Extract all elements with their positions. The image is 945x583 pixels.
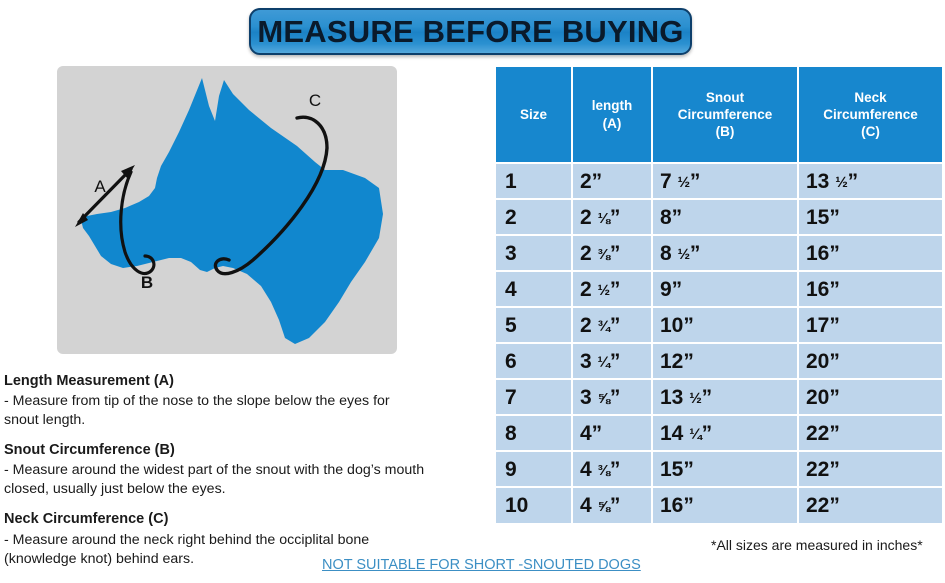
label-b: B [141, 273, 153, 292]
size-chart-table-body: 12”7 ½”13 ½”22 ⅛”8”15”32 ⅜”8 ½”16”42 ½”9… [496, 163, 942, 523]
cell-length: 4 ⅜” [572, 451, 652, 487]
dog-head-diagram: A B C [57, 66, 397, 354]
cell-neck: 22” [798, 487, 942, 523]
cell-snout: 16” [652, 487, 798, 523]
cell-snout: 12” [652, 343, 798, 379]
cell-length: 3 ¼” [572, 343, 652, 379]
cell-size: 3 [496, 235, 572, 271]
size-chart-table-wrapper: Size length(A) SnoutCircumference(B) Nec… [496, 67, 942, 523]
cell-length: 3 ⅝” [572, 379, 652, 415]
instruction-snout: Snout Circumference (B) - Measure around… [4, 441, 482, 499]
cell-neck: 15” [798, 199, 942, 235]
cell-neck: 20” [798, 379, 942, 415]
cell-snout: 8” [652, 199, 798, 235]
cell-length: 2 ¾” [572, 307, 652, 343]
cell-size: 5 [496, 307, 572, 343]
cell-size: 1 [496, 163, 572, 199]
table-row: 12”7 ½”13 ½” [496, 163, 942, 199]
cell-size: 10 [496, 487, 572, 523]
cell-snout: 9” [652, 271, 798, 307]
header-length: length(A) [572, 67, 652, 163]
cell-neck: 17” [798, 307, 942, 343]
table-row: 84”14 ¼”22” [496, 415, 942, 451]
instruction-snout-heading: Snout Circumference (B) [4, 441, 482, 460]
instruction-length: Length Measurement (A) - Measure from ti… [4, 372, 482, 430]
cell-neck: 13 ½” [798, 163, 942, 199]
cell-neck: 22” [798, 415, 942, 451]
table-row: 52 ¾”10”17” [496, 307, 942, 343]
cell-snout: 8 ½” [652, 235, 798, 271]
cell-length: 2 ⅜” [572, 235, 652, 271]
cell-snout: 10” [652, 307, 798, 343]
instruction-neck-heading: Neck Circumference (C) [4, 510, 482, 529]
label-a: A [94, 177, 106, 196]
page-title: MEASURE BEFORE BUYING [257, 14, 683, 50]
cell-neck: 22” [798, 451, 942, 487]
cell-neck: 16” [798, 235, 942, 271]
cell-snout: 7 ½” [652, 163, 798, 199]
cell-snout: 15” [652, 451, 798, 487]
instruction-snout-body: - Measure around the widest part of the … [4, 461, 482, 499]
table-row: 42 ½”9”16” [496, 271, 942, 307]
cell-size: 2 [496, 199, 572, 235]
header-size: Size [496, 67, 572, 163]
table-row: 94 ⅜”15”22” [496, 451, 942, 487]
cell-length: 2 ⅛” [572, 199, 652, 235]
inches-footnote: *All sizes are measured in inches* [711, 537, 923, 553]
cell-size: 4 [496, 271, 572, 307]
table-row: 73 ⅝”13 ½”20” [496, 379, 942, 415]
instruction-length-heading: Length Measurement (A) [4, 372, 482, 391]
cell-length: 4 ⅝” [572, 487, 652, 523]
cell-size: 6 [496, 343, 572, 379]
cell-snout: 14 ¼” [652, 415, 798, 451]
table-header-row: Size length(A) SnoutCircumference(B) Nec… [496, 67, 942, 163]
cell-size: 8 [496, 415, 572, 451]
size-chart-table: Size length(A) SnoutCircumference(B) Nec… [496, 67, 942, 523]
instruction-length-body: - Measure from tip of the nose to the sl… [4, 392, 482, 430]
label-c: C [309, 91, 321, 110]
cell-length: 2” [572, 163, 652, 199]
cell-length: 4” [572, 415, 652, 451]
header-snout: SnoutCircumference(B) [652, 67, 798, 163]
dog-measurement-illustration: A B C [57, 66, 397, 354]
measurement-instructions: Length Measurement (A) - Measure from ti… [4, 372, 482, 580]
table-row: 22 ⅛”8”15” [496, 199, 942, 235]
cell-length: 2 ½” [572, 271, 652, 307]
title-banner: MEASURE BEFORE BUYING [249, 8, 692, 55]
table-row: 32 ⅜”8 ½”16” [496, 235, 942, 271]
not-suitable-note: NOT SUITABLE FOR SHORT -SNOUTED DOGS [322, 557, 641, 573]
cell-size: 9 [496, 451, 572, 487]
cell-neck: 20” [798, 343, 942, 379]
dog-silhouette-shape [81, 78, 383, 344]
cell-neck: 16” [798, 271, 942, 307]
header-neck: NeckCircumference(C) [798, 67, 942, 163]
cell-snout: 13 ½” [652, 379, 798, 415]
table-row: 104 ⅝”16”22” [496, 487, 942, 523]
table-row: 63 ¼”12”20” [496, 343, 942, 379]
cell-size: 7 [496, 379, 572, 415]
